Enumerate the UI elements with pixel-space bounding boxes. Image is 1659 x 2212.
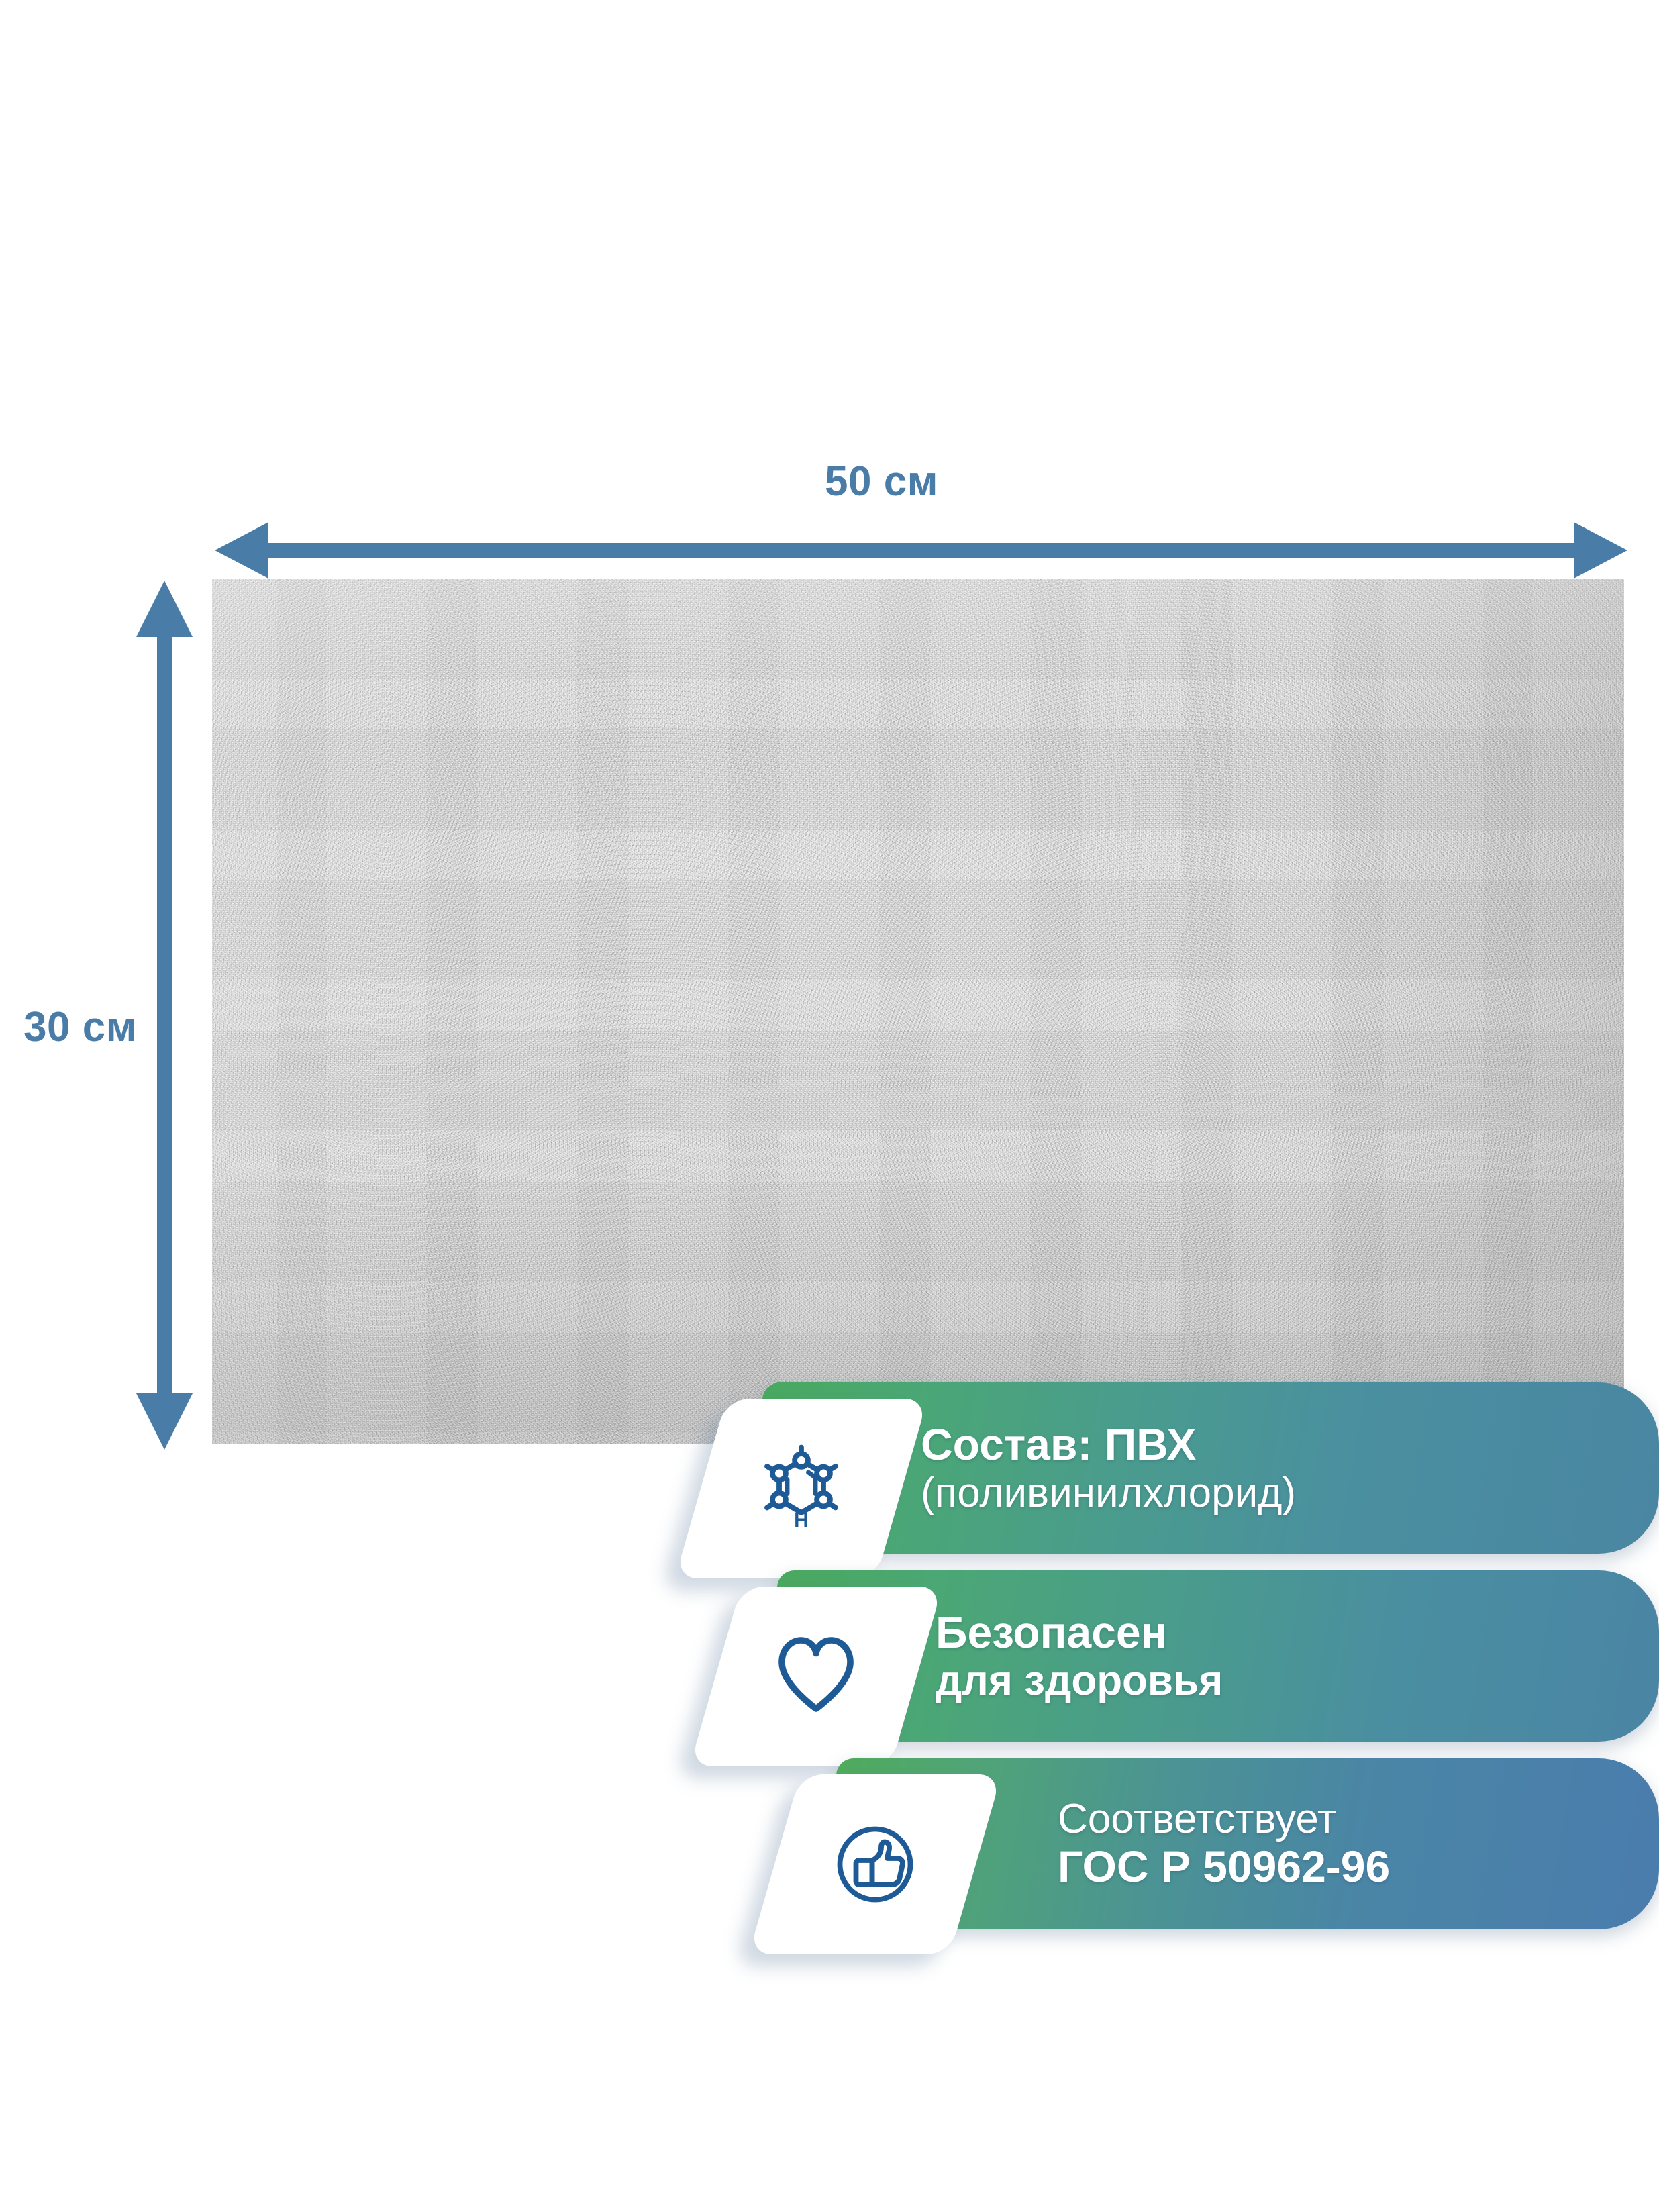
badge-health-safe[interactable]: Безопасен для здоровья bbox=[777, 1570, 1659, 1742]
width-dimension-label: 50 см bbox=[825, 458, 938, 505]
thumbs-up-circle-icon bbox=[825, 1814, 925, 1915]
badge-text-block: Безопасен для здоровья bbox=[936, 1570, 1632, 1742]
badge-standard-compliance[interactable]: Соответствует ГОС Р 50962-96 bbox=[836, 1758, 1659, 1929]
height-dimension-label: 30 см bbox=[23, 1003, 137, 1051]
badge-text-block: Соответствует ГОС Р 50962-96 bbox=[1058, 1758, 1632, 1929]
badge-composition[interactable]: H Состав: ПВХ (поливинилхлорид) bbox=[762, 1382, 1659, 1554]
pvc-mat-surface bbox=[212, 579, 1624, 1444]
badge-text-block: Состав: ПВХ (поливинилхлорид) bbox=[921, 1382, 1632, 1554]
svg-text:H: H bbox=[794, 1509, 809, 1531]
badge-line-secondary: ГОС Р 50962-96 bbox=[1058, 1842, 1632, 1892]
badge-icon-tab bbox=[690, 1587, 943, 1766]
heart-icon bbox=[766, 1626, 866, 1727]
badge-line-primary: Состав: ПВХ bbox=[921, 1420, 1632, 1470]
badge-line-primary: Соответствует bbox=[1058, 1796, 1632, 1842]
badge-icon-tab bbox=[749, 1774, 1002, 1954]
mat-shading-overlay bbox=[212, 579, 1624, 1444]
double-arrow-vertical-icon bbox=[131, 581, 198, 1450]
badge-line-secondary: для здоровья bbox=[936, 1658, 1632, 1704]
feature-badge-list: H Состав: ПВХ (поливинилхлорид) Безопа bbox=[0, 1382, 1659, 2000]
badge-line-secondary: (поливинилхлорид) bbox=[921, 1470, 1632, 1516]
product-infographic: 50 см 30 см bbox=[0, 0, 1659, 2212]
double-arrow-horizontal-icon bbox=[215, 517, 1627, 584]
molecule-icon: H bbox=[751, 1438, 852, 1539]
badge-line-primary: Безопасен bbox=[936, 1608, 1632, 1658]
badge-icon-tab: H bbox=[675, 1399, 928, 1578]
